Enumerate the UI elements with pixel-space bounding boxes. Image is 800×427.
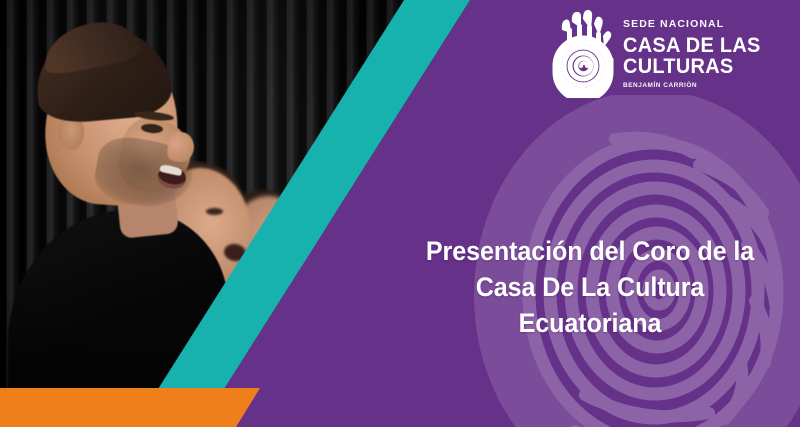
event-poster: SEDE NACIONAL CASA DE LAS CULTURAS BENJA…	[0, 0, 800, 427]
event-title: Presentación del Coro de la Casa De La C…	[411, 234, 768, 342]
hand-fingerprint-icon	[552, 10, 614, 98]
logo-wordmark: SEDE NACIONAL CASA DE LAS CULTURAS BENJA…	[623, 10, 768, 89]
logo-line-sede-nacional: SEDE NACIONAL	[623, 19, 768, 30]
casa-de-las-culturas-logo: SEDE NACIONAL CASA DE LAS CULTURAS BENJA…	[552, 10, 768, 98]
logo-line-benjamin-carrion: BENJAMÍN CARRIÓN	[623, 82, 768, 89]
logo-line-casa-de-las-culturas: CASA DE LAS CULTURAS	[623, 35, 761, 79]
orange-bottom-bar	[0, 388, 260, 427]
